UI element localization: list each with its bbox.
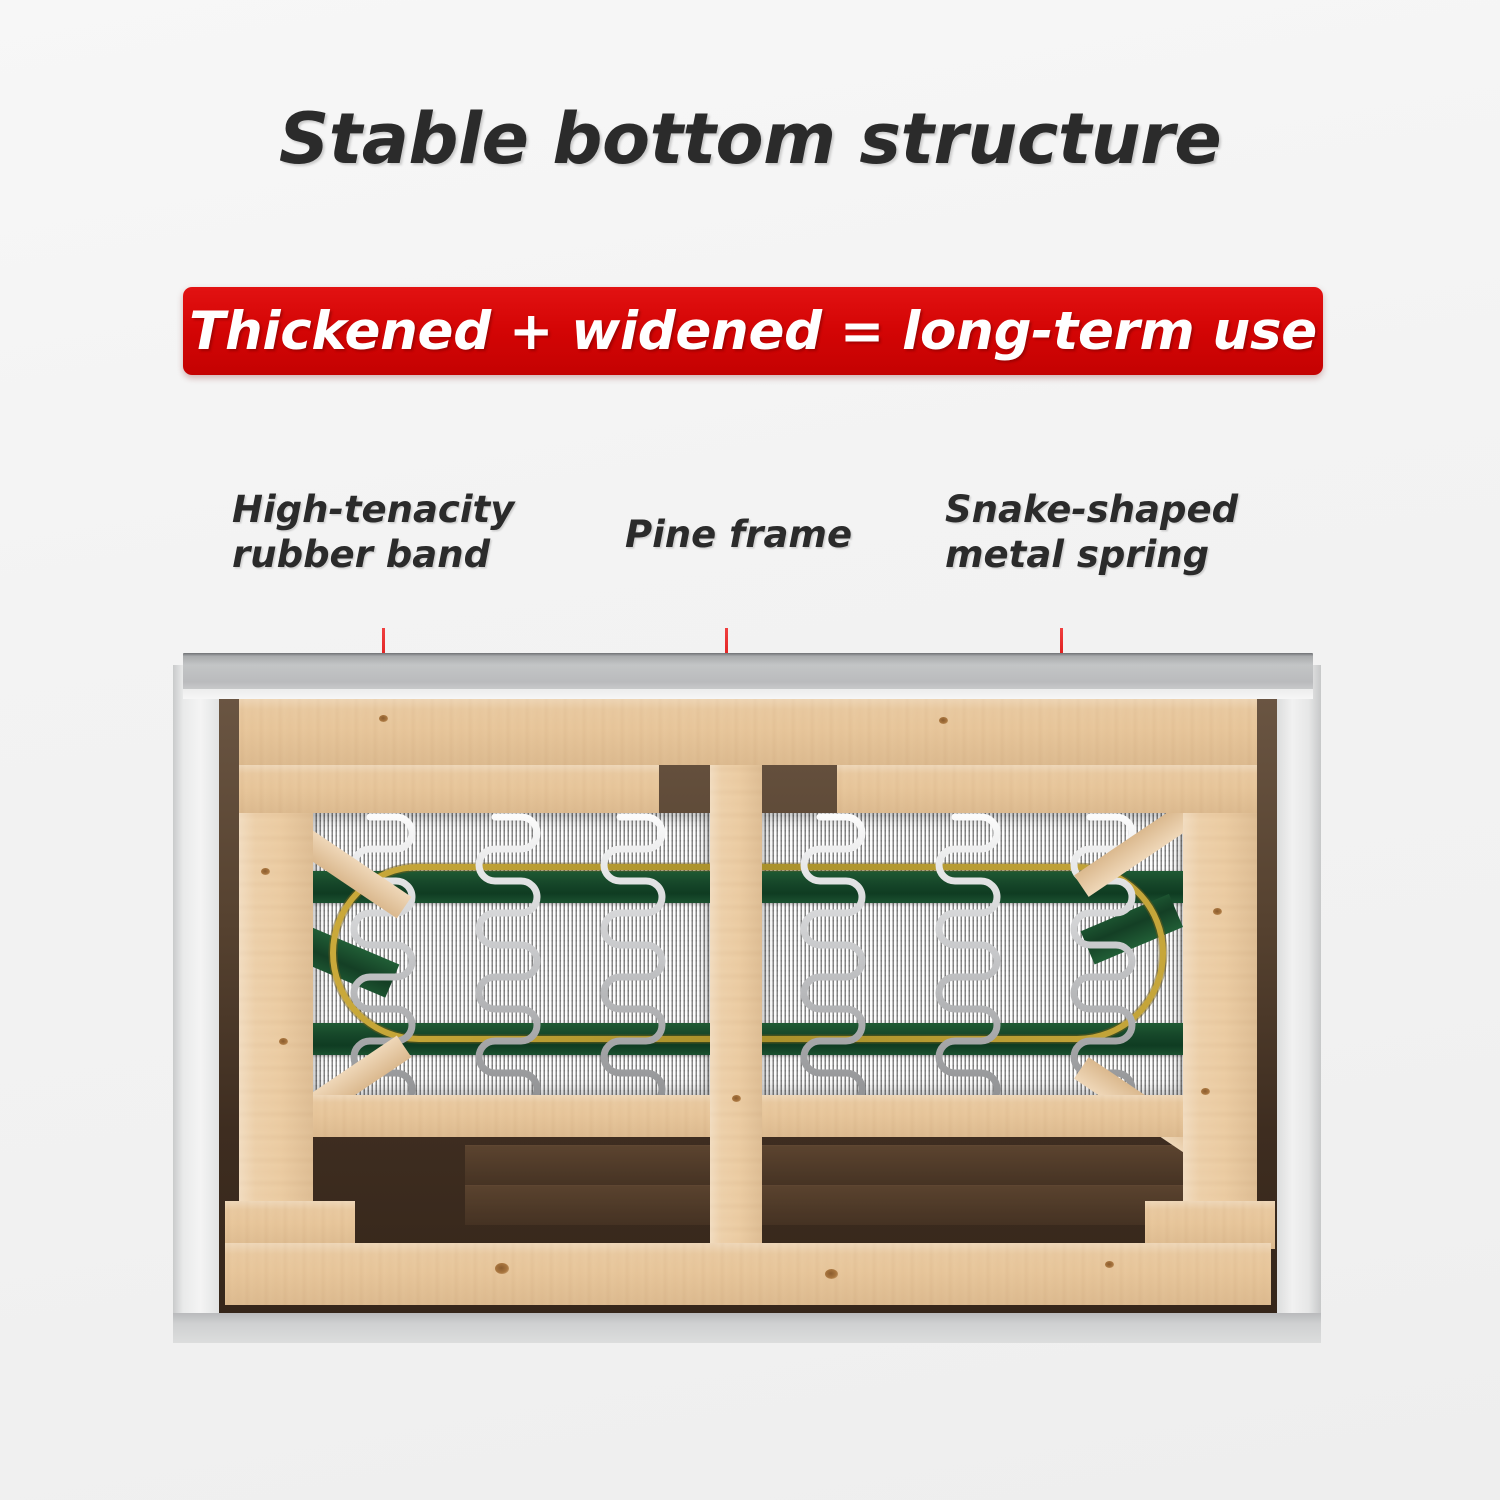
wood-knot-icon — [261, 868, 270, 875]
product-photo — [165, 645, 1335, 1360]
wood-knot-icon — [495, 1263, 509, 1274]
headline-banner-text: Thickened + widened = long-term use — [189, 301, 1317, 362]
sofa-shell-left-edge — [173, 665, 219, 1337]
frame-post-right — [1183, 788, 1257, 1218]
callout-label-metal-spring: Snake-shaped metal spring — [945, 487, 1238, 577]
callout-label-pine-frame: Pine frame — [625, 512, 852, 557]
frame-rail-middle — [265, 1095, 715, 1137]
sofa-shell-top-highlight — [183, 689, 1313, 699]
sofa-shell-right-edge — [1277, 665, 1321, 1337]
webbing-strap — [762, 1023, 1183, 1055]
frame-leg-block-right — [1145, 1201, 1275, 1249]
frame-rail-top — [239, 697, 1257, 765]
wood-knot-icon — [1213, 908, 1222, 915]
sofa-shell-bottom-edge — [173, 1313, 1321, 1343]
wood-knot-icon — [279, 1038, 288, 1045]
headline-banner: Thickened + widened = long-term use — [183, 287, 1323, 375]
wood-knot-icon — [732, 1095, 741, 1102]
sofa-shell-top-edge — [183, 653, 1313, 693]
frame-rail-bottom — [225, 1243, 1271, 1305]
wood-knot-icon — [1105, 1261, 1114, 1268]
wood-knot-icon — [825, 1269, 838, 1279]
frame-rail-middle — [757, 1095, 1257, 1137]
webbing-strap — [313, 1023, 710, 1055]
page-title: Stable bottom structure — [0, 98, 1500, 180]
frame-post-left — [239, 788, 313, 1218]
wood-knot-icon — [379, 715, 388, 722]
callout-label-rubber-band: High-tenacity rubber band — [232, 487, 514, 577]
frame-cross-member-right — [837, 765, 1257, 813]
back-panel-slat — [465, 1185, 1225, 1225]
frame-post-center — [710, 765, 762, 1255]
wood-knot-icon — [1201, 1088, 1210, 1095]
frame-cross-member-left — [239, 765, 659, 813]
back-panel-slat — [465, 1145, 1225, 1185]
wood-knot-icon — [939, 717, 948, 724]
frame-leg-block-left — [225, 1201, 355, 1249]
